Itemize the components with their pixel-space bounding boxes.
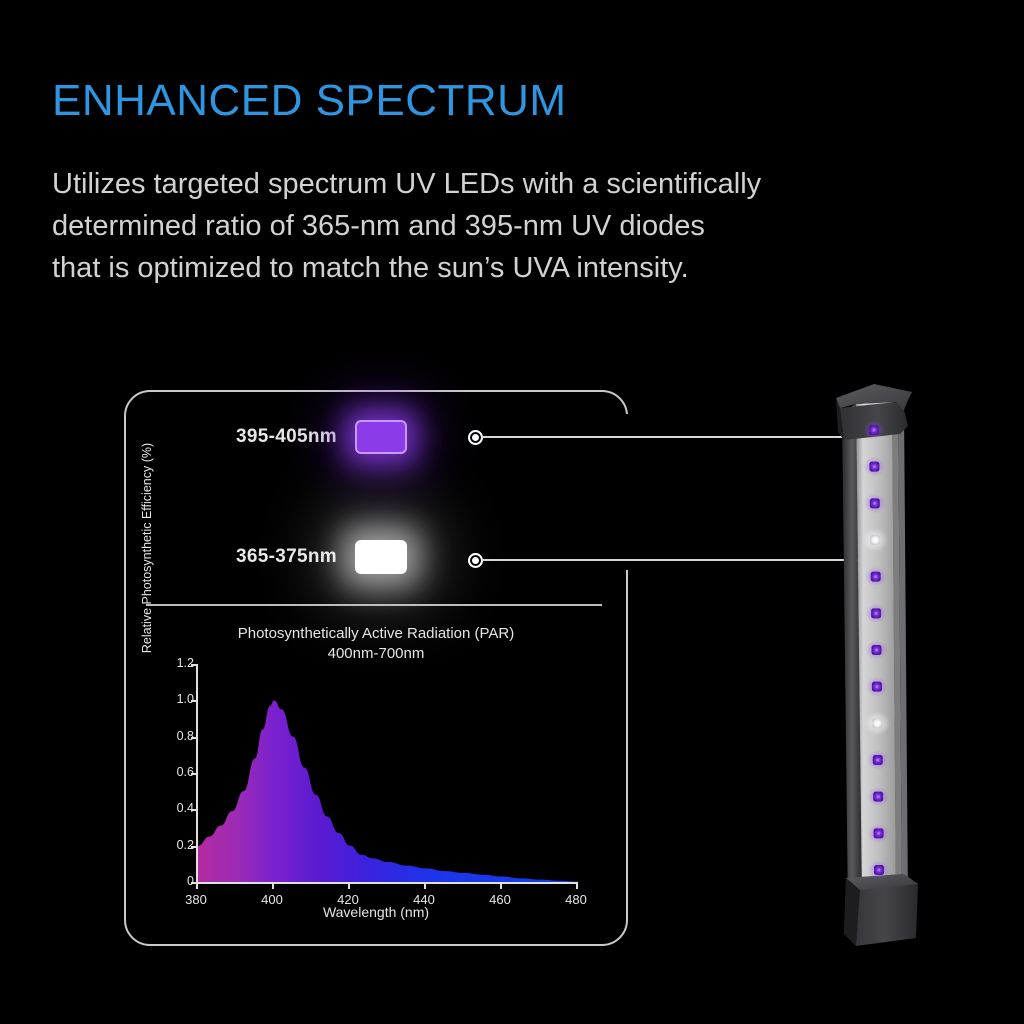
connector-dot-395 — [468, 430, 483, 445]
chart-title-sub: 400nm-700nm — [146, 644, 606, 664]
chart-y-tick-label: 1.0 — [177, 692, 194, 706]
chart-y-tick-label: 0.6 — [177, 765, 194, 779]
description-line-2: determined ratio of 365-nm and 395-nm UV… — [52, 205, 932, 247]
led-white — [870, 535, 880, 545]
led-violet — [869, 462, 879, 472]
led-violet — [871, 572, 881, 582]
chart-x-tick — [196, 882, 198, 889]
led-white — [872, 718, 882, 728]
white-led-swatch — [355, 540, 407, 574]
chart-title: Photosynthetically Active Radiation (PAR… — [146, 624, 606, 664]
led-violet — [873, 755, 883, 765]
led-violet — [874, 865, 884, 875]
led-violet — [872, 682, 882, 692]
uv-led-bar — [800, 378, 980, 958]
card-divider — [146, 604, 602, 606]
led-violet — [874, 828, 884, 838]
chart-y-tick-label: 0.4 — [177, 801, 194, 815]
description-line-3: that is optimized to match the sun’s UVA… — [52, 247, 932, 289]
violet-led-swatch — [355, 420, 407, 454]
description-line-1: Utilizes targeted spectrum UV LEDs with … — [52, 163, 932, 205]
chart-x-tick — [272, 882, 274, 889]
chart-x-tick — [500, 882, 502, 889]
led-violet — [870, 498, 880, 508]
chart-xlabel: Wavelength (nm) — [146, 904, 606, 920]
chart-y-tick-label: 0.8 — [177, 729, 194, 743]
led-violet — [871, 608, 881, 618]
chart-x-axis — [196, 882, 578, 884]
legend-row-365: 365-375nm — [236, 540, 407, 574]
description-text: Utilizes targeted spectrum UV LEDs with … — [52, 163, 932, 289]
connector-dot-365 — [468, 553, 483, 568]
led-violet — [869, 425, 879, 435]
chart-x-tick — [576, 882, 578, 889]
page-title: ENHANCED SPECTRUM — [52, 76, 567, 126]
chart-y-tick-label: 0 — [187, 874, 194, 888]
chart-plot-area: 00.20.40.60.81.01.2 380400420440460480 — [196, 664, 578, 884]
led-violet — [872, 645, 882, 655]
enhanced-spectrum-panel: ENHANCED SPECTRUM Utilizes targeted spec… — [0, 0, 1024, 1024]
connector-line-395 — [482, 436, 854, 438]
legend-row-395: 395-405nm — [236, 420, 407, 454]
legend-label-395: 395-405nm — [236, 426, 337, 448]
legend-label-365: 365-375nm — [236, 546, 337, 568]
chart-x-tick — [424, 882, 426, 889]
led-bar-bottom-cap — [844, 874, 918, 946]
led-violet — [873, 792, 883, 802]
chart-x-tick — [348, 882, 350, 889]
spectrum-curve — [198, 664, 578, 884]
chart-y-tick-label: 0.2 — [177, 838, 194, 852]
par-chart: Photosynthetically Active Radiation (PAR… — [146, 618, 606, 930]
chart-ylabel: Relative Photosynthetic Efficiency (%) — [140, 438, 154, 658]
chart-title-main: Photosynthetically Active Radiation (PAR… — [146, 624, 606, 644]
chart-y-tick-label: 1.2 — [177, 656, 194, 670]
